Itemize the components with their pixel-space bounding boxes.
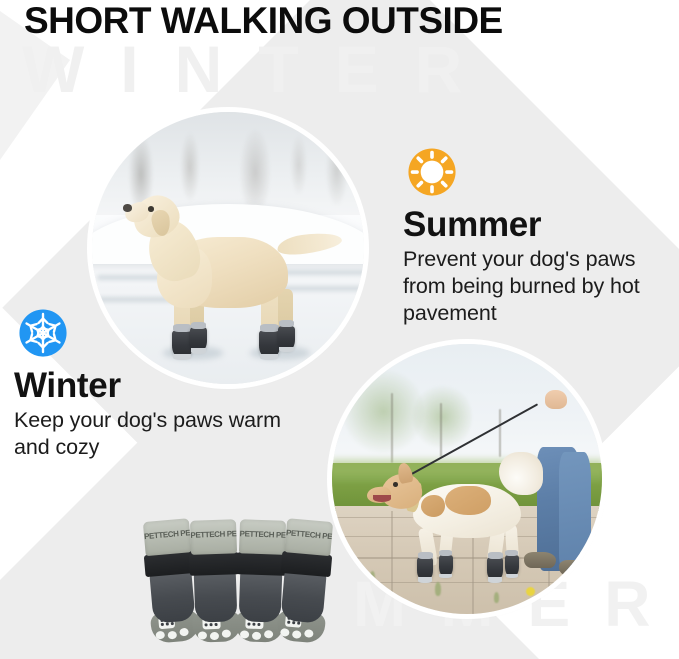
park-weed (435, 582, 441, 596)
snowflake-icon (14, 304, 72, 362)
person-jeans (559, 452, 591, 571)
sun-icon (403, 143, 461, 201)
dog-boot (487, 557, 503, 580)
infographic-canvas: WINTER SUMMER SHORT WALKING OUTSIDE (0, 0, 679, 659)
person-shoe (559, 560, 589, 575)
labrador-eye (148, 206, 155, 212)
grip-pad (252, 632, 261, 640)
grip-pad (292, 630, 302, 639)
labrador-nose (123, 204, 132, 211)
walking-dog-eye (393, 482, 398, 487)
sock-body (280, 570, 326, 623)
grip-pad (264, 630, 273, 638)
photo-summer-dog (332, 344, 602, 614)
sock-body (239, 571, 283, 622)
grip-pad (198, 631, 207, 639)
dog-boot (417, 557, 433, 580)
sock-cuff: PETTECH PETTECH (284, 518, 333, 556)
grip-pad (240, 630, 249, 638)
sock-strap (189, 552, 240, 576)
dog-boot (505, 555, 519, 577)
walking-dog-patch (445, 486, 491, 516)
dog-sock: PETTECH PETTECH (277, 518, 333, 642)
feature-winter-description: Keep your dog's paws warm and cozy (14, 407, 282, 461)
sock-cuff-text: PETTECH PETTECH (144, 528, 191, 541)
grip-pad (155, 631, 165, 640)
park-weed (370, 571, 375, 583)
feature-summer-description: Prevent your dog's paws from being burne… (403, 246, 675, 327)
watermark-winter: WINTER (22, 36, 498, 102)
feature-summer: Summer Prevent your dog's paws from bein… (403, 143, 675, 327)
person-shoe (524, 552, 556, 568)
pavement-seam (391, 511, 393, 614)
dog-sock: PETTECH PETTECH (190, 519, 240, 641)
sock-body (149, 570, 195, 623)
summer-scene (332, 344, 602, 614)
feature-winter-title: Winter (14, 366, 282, 406)
person-hand (545, 390, 567, 409)
feature-summer-title: Summer (403, 205, 675, 245)
page-title: SHORT WALKING OUTSIDE (24, 0, 503, 42)
feature-winter: Winter Keep your dog's paws warm and coz… (14, 304, 282, 461)
grip-pad (179, 628, 189, 637)
sock-cuff: PETTECH PETTECH (143, 518, 192, 556)
park-tree (413, 382, 472, 452)
grip-pad (280, 628, 290, 637)
grip-pad (167, 631, 177, 640)
sock-strap (236, 552, 287, 576)
park-branch (440, 403, 442, 457)
sock-cuff-text: PETTECH PETTECH (239, 529, 285, 540)
walking-dog-tail (499, 452, 542, 495)
grip-pad (222, 629, 231, 637)
walking-dog-patch (421, 495, 445, 517)
park-tree (343, 366, 424, 458)
sock-cuff-text: PETTECH PETTECH (190, 529, 236, 540)
sock-cuff-text: PETTECH PETTECH (286, 528, 333, 541)
park-weed (494, 592, 499, 603)
product-dog-socks: PETTECH PETTECH PETTECH PETTECH (140, 448, 340, 648)
sock-cuff: PETTECH PETTECH (239, 519, 286, 555)
sock-body (194, 571, 238, 622)
grip-pad (210, 632, 219, 640)
dog-boot (439, 555, 453, 577)
grip-pad (304, 629, 314, 638)
sock-cuff: PETTECH PETTECH (190, 519, 237, 555)
